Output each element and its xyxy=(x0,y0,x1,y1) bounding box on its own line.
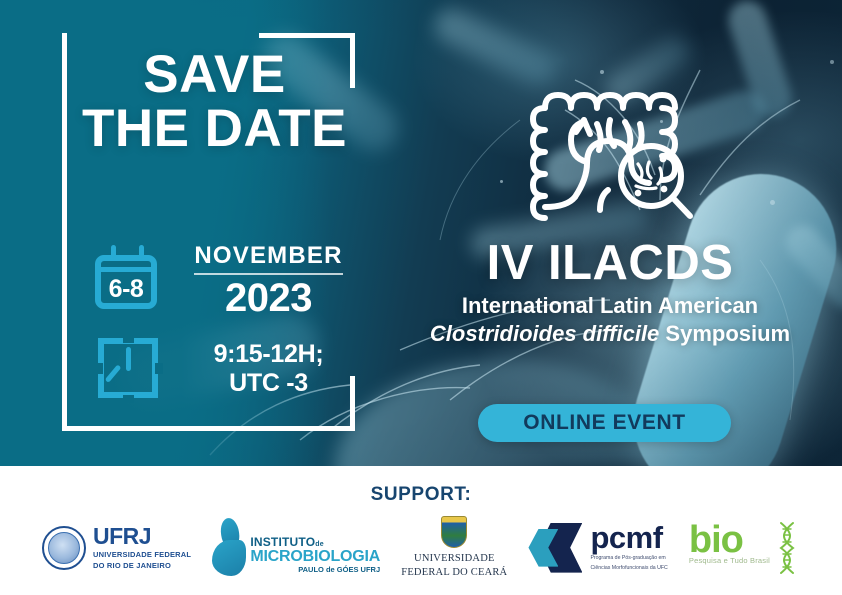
symposium-word: Symposium xyxy=(659,321,790,346)
logo-ufc: UNIVERSIDADE FEDERAL DO CEARÁ xyxy=(401,516,507,579)
microbiology-flask-icon xyxy=(212,518,248,578)
pcmf-subtitle-line-2: Ciências Morfofuncionais da UFC xyxy=(590,565,667,573)
event-subtitle-line-2: Clostridioides difficile Symposium xyxy=(390,321,830,347)
calendar-icon: 6-8 xyxy=(91,245,167,317)
month-label: NOVEMBER xyxy=(184,243,353,269)
save-the-date-line-1: SAVE xyxy=(72,48,357,102)
ufc-line-1: UNIVERSIDADE xyxy=(401,552,507,566)
imicro-line-2: MICROBIOLOGIA xyxy=(250,549,380,565)
imicro-text: INSTITUTOde MICROBIOLOGIA PAULO de GÓES … xyxy=(250,536,380,578)
logo-pcmf: pcmf Programa de Pós-graduação em Ciênci… xyxy=(528,522,667,573)
logo-bio: bio Pesquisa e Tudo Brasil xyxy=(689,521,800,575)
logo-instituto-microbiologia: INSTITUTOde MICROBIOLOGIA PAULO de GÓES … xyxy=(212,518,380,578)
pcmf-text: pcmf Programa de Pós-graduação em Ciênci… xyxy=(590,522,667,573)
pcmf-name: pcmf xyxy=(590,522,667,553)
clock-icon xyxy=(93,333,165,405)
imicro-word-de: de xyxy=(315,541,324,548)
ufc-crest-icon xyxy=(441,516,467,548)
online-event-badge[interactable]: ONLINE EVENT xyxy=(478,404,731,442)
event-poster: SAVE THE DATE 6-8 NOVEMBER xyxy=(0,0,842,595)
date-row: 6-8 NOVEMBER 2023 xyxy=(88,243,353,319)
year-label: 2023 xyxy=(184,278,353,319)
imicro-word-instituto: INSTITUTO xyxy=(250,535,315,549)
event-acronym-title: IV ILACDS xyxy=(390,238,830,289)
time-text: 9:15-12H; UTC -3 xyxy=(184,340,353,399)
pcmf-subtitle-line-1: Programa de Pós-graduação em xyxy=(590,555,667,563)
ufc-line-2: FEDERAL DO CEARÁ xyxy=(401,566,507,580)
ufrj-subtitle-line-2: DO RIO DE JANEIRO xyxy=(93,561,191,570)
support-section: SUPPORT: UFRJ UNIVERSIDADE FEDERAL DO RI… xyxy=(0,466,842,595)
ufrj-seal-icon xyxy=(42,526,86,570)
sponsor-logo-row: UFRJ UNIVERSIDADE FEDERAL DO RIO DE JANE… xyxy=(0,506,842,579)
imicro-line-1: INSTITUTOde xyxy=(250,536,380,548)
event-subtitle-line-1: International Latin American xyxy=(390,293,830,319)
time-row: 9:15-12H; UTC -3 xyxy=(88,333,353,405)
ufrj-name: UFRJ xyxy=(93,525,191,548)
ufrj-text: UFRJ UNIVERSIDADE FEDERAL DO RIO DE JANE… xyxy=(93,525,191,571)
bio-text: bio Pesquisa e Tudo Brasil xyxy=(689,521,770,565)
time-line-2: UTC -3 xyxy=(184,369,353,399)
imicro-line-3: PAULO de GÓES UFRJ xyxy=(250,566,380,574)
logo-ufrj: UFRJ UNIVERSIDADE FEDERAL DO RIO DE JANE… xyxy=(42,525,191,571)
ufc-text: UNIVERSIDADE FEDERAL DO CEARÁ xyxy=(401,552,507,579)
support-heading: SUPPORT: xyxy=(0,466,842,506)
event-title-block: IV ILACDS International Latin American C… xyxy=(390,238,830,347)
ufrj-subtitle-line-1: UNIVERSIDADE FEDERAL xyxy=(93,550,191,559)
intestine-magnifier-icon xyxy=(512,62,712,227)
save-the-date-line-2: THE DATE xyxy=(72,102,357,156)
hero-section: SAVE THE DATE 6-8 NOVEMBER xyxy=(0,0,842,466)
time-line-1: 9:15-12H; xyxy=(184,340,353,370)
pcmf-hexagon-icon xyxy=(528,523,582,573)
species-name-italic: Clostridioides difficile xyxy=(430,321,659,346)
clock-icon-wrap xyxy=(88,333,170,405)
save-the-date-heading: SAVE THE DATE xyxy=(72,48,357,156)
date-divider xyxy=(194,273,343,275)
bio-subtitle: Pesquisa e Tudo Brasil xyxy=(689,557,770,565)
dna-helix-icon xyxy=(774,521,800,575)
bio-name: bio xyxy=(689,521,770,559)
event-details-block: 6-8 NOVEMBER 2023 xyxy=(88,243,353,405)
date-text: NOVEMBER 2023 xyxy=(184,243,353,319)
calendar-days-label: 6-8 xyxy=(95,275,157,304)
calendar-icon-wrap: 6-8 xyxy=(88,245,170,317)
